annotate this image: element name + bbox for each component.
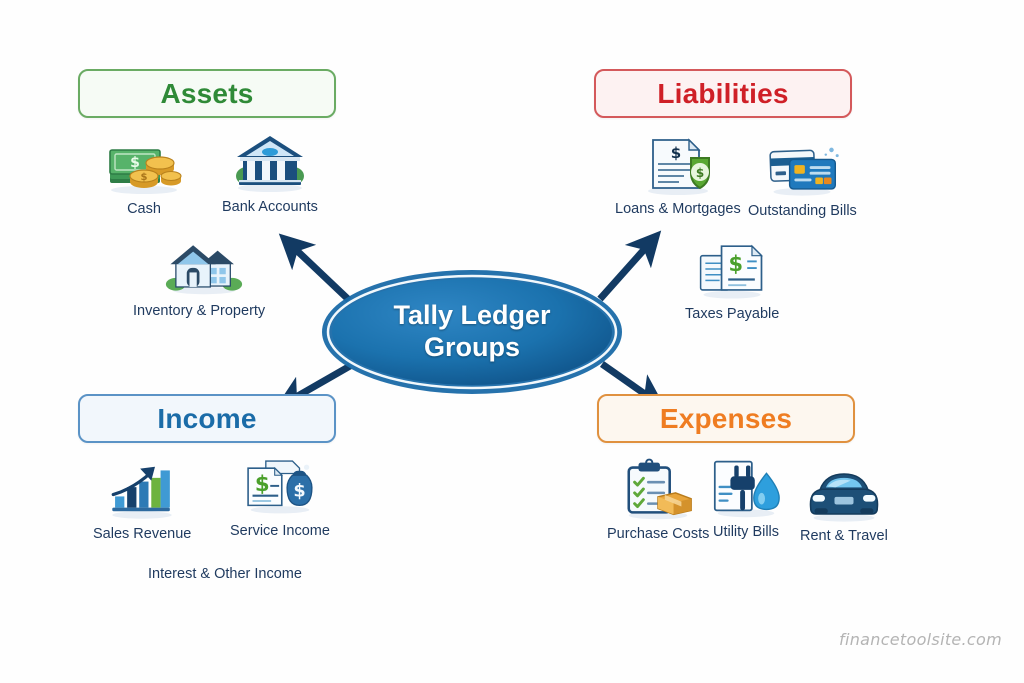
- tax-documents-icon: $: [693, 235, 771, 301]
- invoice-money-bag-icon: $ $: [241, 452, 319, 518]
- heading-income[interactable]: Income: [78, 394, 336, 443]
- item-taxes-payable[interactable]: $ Taxes Payable: [685, 235, 779, 322]
- bank-building-icon: [231, 128, 309, 194]
- heading-expenses-label: Expenses: [660, 403, 792, 435]
- svg-text:$: $: [130, 155, 140, 171]
- svg-text:$: $: [255, 472, 270, 497]
- item-purchase-costs-label: Purchase Costs: [607, 526, 709, 542]
- item-cash-label: Cash: [127, 201, 161, 217]
- heading-liabilities-label: Liabilities: [657, 78, 788, 110]
- item-loans-mortgages[interactable]: $ $ Loans & Mortgages: [615, 130, 741, 217]
- infographic-canvas: Assets $: [0, 0, 1024, 683]
- item-sales-revenue[interactable]: Sales Revenue: [93, 455, 191, 542]
- item-utility-bills[interactable]: Utility Bills: [707, 453, 785, 540]
- heading-liabilities[interactable]: Liabilities: [594, 69, 852, 118]
- growth-bar-chart-icon: [103, 455, 181, 521]
- item-service-income[interactable]: $ $ Service Income: [230, 452, 330, 539]
- heading-expenses[interactable]: Expenses: [597, 394, 855, 443]
- svg-text:$: $: [729, 252, 744, 276]
- item-outstanding-bills[interactable]: Outstanding Bills: [748, 132, 857, 219]
- item-rent-travel-label: Rent & Travel: [800, 528, 888, 544]
- item-inventory-property-label: Inventory & Property: [133, 303, 265, 319]
- car-icon: [805, 457, 883, 523]
- cash-bills-coins-icon: $ $: [105, 130, 183, 196]
- plug-water-drop-icon: [707, 453, 785, 519]
- svg-text:$: $: [671, 144, 681, 162]
- item-bank-accounts-label: Bank Accounts: [222, 199, 318, 215]
- watermark: financetoolsite.com: [839, 630, 1002, 649]
- item-outstanding-bills-label: Outstanding Bills: [748, 203, 857, 219]
- center-node[interactable]: Tally Ledger Groups: [320, 268, 624, 396]
- clipboard-checklist-box-icon: [619, 455, 697, 521]
- item-utility-bills-label: Utility Bills: [713, 524, 779, 540]
- credit-cards-icon: [763, 132, 841, 198]
- item-interest-other-income-label: Interest & Other Income: [148, 566, 302, 582]
- loan-document-shield-icon: $ $: [639, 130, 717, 196]
- item-purchase-costs[interactable]: Purchase Costs: [607, 455, 709, 542]
- item-cash[interactable]: $ $ Cash: [105, 130, 183, 217]
- item-sales-revenue-label: Sales Revenue: [93, 526, 191, 542]
- item-loans-mortgages-label: Loans & Mortgages: [615, 201, 741, 217]
- svg-text:$: $: [293, 482, 305, 502]
- svg-text:$: $: [141, 172, 148, 183]
- item-taxes-payable-label: Taxes Payable: [685, 306, 779, 322]
- item-bank-accounts[interactable]: Bank Accounts: [222, 128, 318, 215]
- item-inventory-property[interactable]: [165, 232, 243, 298]
- svg-text:$: $: [696, 166, 704, 180]
- house-property-icon: [165, 232, 243, 298]
- item-service-income-label: Service Income: [230, 523, 330, 539]
- heading-assets-label: Assets: [160, 78, 253, 110]
- item-rent-travel[interactable]: Rent & Travel: [800, 457, 888, 544]
- heading-assets[interactable]: Assets: [78, 69, 336, 118]
- heading-income-label: Income: [157, 403, 256, 435]
